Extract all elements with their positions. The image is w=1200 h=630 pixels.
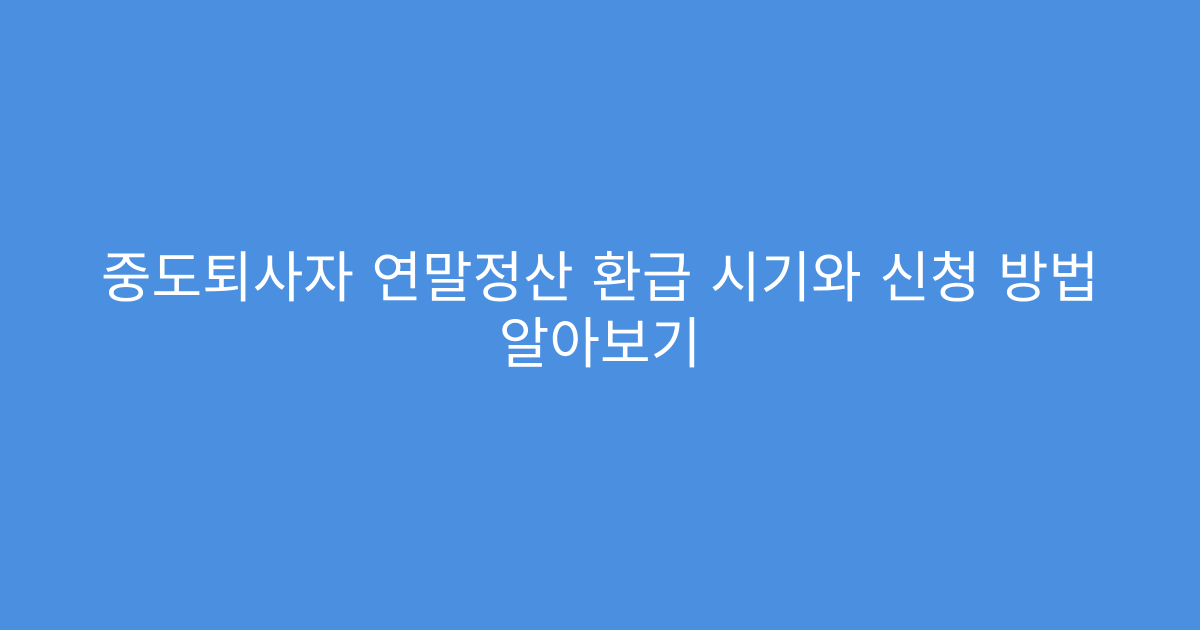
headline-block: 중도퇴사자 연말정산 환급 시기와 신청 방법 알아보기 [0, 245, 1200, 377]
page-title: 중도퇴사자 연말정산 환급 시기와 신청 방법 알아보기 [40, 245, 1160, 377]
thumbnail-card: 중도퇴사자 연말정산 환급 시기와 신청 방법 알아보기 [0, 0, 1200, 630]
